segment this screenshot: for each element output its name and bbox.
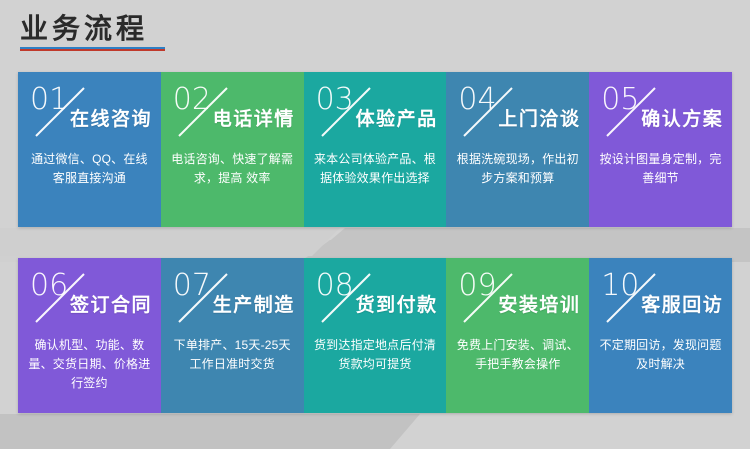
process-step-description: 根据洗碗现场，作出初步方案和预算: [455, 150, 580, 188]
process-step-title: 电话详情: [213, 108, 295, 132]
process-step-description: 通过微信、QQ、在线客服直接沟通: [27, 150, 152, 188]
process-step-card[interactable]: 01在线咨询通过微信、QQ、在线客服直接沟通: [18, 72, 161, 227]
process-step-head: 10客服回访: [589, 268, 732, 330]
process-step-title: 在线咨询: [70, 108, 152, 132]
process-step-card[interactable]: 06签订合同确认机型、功能、数量、交货日期、价格进行签约: [18, 258, 161, 413]
process-step-number: 04: [458, 84, 496, 116]
process-step-description: 按设计图量身定制，完善细节: [598, 150, 723, 188]
process-row-one: 01在线咨询通过微信、QQ、在线客服直接沟通02电话详情电话咨询、快速了解需求，…: [18, 72, 732, 227]
process-row-two: 06签订合同确认机型、功能、数量、交货日期、价格进行签约07生产制造下单排产、1…: [18, 258, 732, 413]
process-step-number: 06: [30, 270, 68, 302]
process-step-number: 03: [316, 84, 354, 116]
process-step-title: 安装培训: [498, 294, 580, 318]
page-title: 业务流程: [20, 12, 148, 46]
process-step-head: 02电话详情: [161, 82, 304, 144]
process-step-title: 体验产品: [356, 108, 438, 132]
process-step-description: 货到达指定地点后付清货款均可提货: [313, 336, 438, 374]
process-step-head: 03体验产品: [304, 82, 447, 144]
process-step-number: 07: [173, 270, 211, 302]
process-step-card[interactable]: 09安装培训免费上门安装、调试、手把手教会操作: [446, 258, 589, 413]
title-underline-secondary: [20, 49, 165, 51]
process-step-card[interactable]: 05确认方案按设计图量身定制，完善细节: [589, 72, 732, 227]
process-step-head: 04上门洽谈: [446, 82, 589, 144]
process-step-card[interactable]: 02电话详情电话咨询、快速了解需求，提高 效率: [161, 72, 304, 227]
process-step-description: 来本公司体验产品、根据体验效果作出选择: [313, 150, 438, 188]
process-step-card[interactable]: 10客服回访不定期回访，发现问题及时解决: [589, 258, 732, 413]
process-step-number: 09: [458, 270, 496, 302]
process-step-title: 确认方案: [641, 108, 723, 132]
process-step-card[interactable]: 08货到付款货到达指定地点后付清货款均可提货: [304, 258, 447, 413]
process-step-head: 09安装培训: [446, 268, 589, 330]
process-step-title: 签订合同: [70, 294, 152, 318]
process-step-head: 07生产制造: [161, 268, 304, 330]
process-step-head: 08货到付款: [304, 268, 447, 330]
process-step-card[interactable]: 04上门洽谈根据洗碗现场，作出初步方案和预算: [446, 72, 589, 227]
process-step-title: 客服回访: [641, 294, 723, 318]
process-page: 业务流程 01在线咨询通过微信、QQ、在线客服直接沟通02电话详情电话咨询、快速…: [0, 0, 750, 449]
process-step-number: 01: [30, 84, 68, 116]
process-step-title: 上门洽谈: [498, 108, 580, 132]
process-step-number: 10: [601, 270, 639, 302]
process-step-head: 01在线咨询: [18, 82, 161, 144]
process-step-number: 08: [316, 270, 354, 302]
process-step-number: 02: [173, 84, 211, 116]
process-step-title: 货到付款: [356, 294, 438, 318]
process-step-card[interactable]: 07生产制造下单排产、15天-25天工作日准时交货: [161, 258, 304, 413]
process-step-title: 生产制造: [213, 294, 295, 318]
process-step-head: 05确认方案: [589, 82, 732, 144]
process-step-description: 不定期回访，发现问题及时解决: [598, 336, 723, 374]
process-step-description: 电话咨询、快速了解需求，提高 效率: [170, 150, 295, 188]
process-step-description: 确认机型、功能、数量、交货日期、价格进行签约: [27, 336, 152, 393]
process-step-description: 免费上门安装、调试、手把手教会操作: [455, 336, 580, 374]
process-step-head: 06签订合同: [18, 268, 161, 330]
page-header: 业务流程: [0, 0, 750, 62]
process-step-card[interactable]: 03体验产品来本公司体验产品、根据体验效果作出选择: [304, 72, 447, 227]
process-step-description: 下单排产、15天-25天工作日准时交货: [170, 336, 295, 374]
process-step-number: 05: [601, 84, 639, 116]
